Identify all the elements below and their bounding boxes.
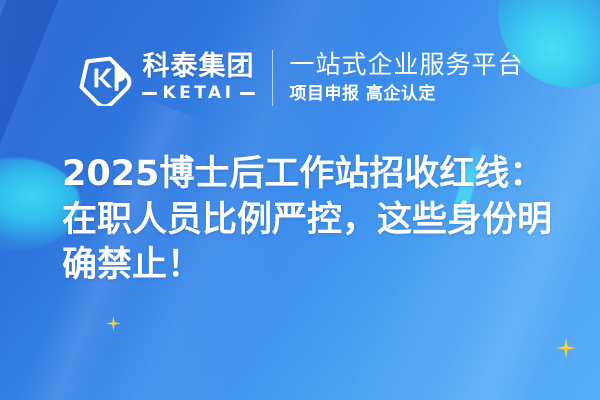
tagline-block: 一站式企业服务平台 项目申报 高企认定 bbox=[290, 50, 524, 105]
brand-name-en-row: KETAI bbox=[142, 85, 254, 102]
banner-header-row: 科泰集团 KETAI 一站式企业服务平台 项目申报 高企认定 bbox=[0, 40, 600, 115]
sparkle-icon bbox=[106, 316, 121, 331]
headline-title: 2025博士后工作站招收红线：在职人员比例严控，这些身份明确禁止！ bbox=[62, 152, 558, 289]
brand-logo: 科泰集团 KETAI bbox=[76, 50, 254, 106]
brand-name-cn: 科泰集团 bbox=[142, 53, 254, 80]
vertical-divider bbox=[272, 50, 273, 106]
sparkle-icon bbox=[556, 338, 576, 358]
ketai-diamond-kp-logo-icon bbox=[76, 50, 132, 106]
promo-banner: 科泰集团 KETAI 一站式企业服务平台 项目申报 高企认定 2025博士后工作… bbox=[0, 0, 600, 400]
tagline-primary: 一站式企业服务平台 bbox=[290, 50, 524, 80]
tagline-secondary: 项目申报 高企认定 bbox=[290, 84, 524, 105]
rule-right bbox=[240, 92, 255, 95]
brand-name-en: KETAI bbox=[162, 85, 234, 102]
rule-left bbox=[142, 92, 157, 95]
brand-wordmark: 科泰集团 KETAI bbox=[142, 53, 254, 102]
